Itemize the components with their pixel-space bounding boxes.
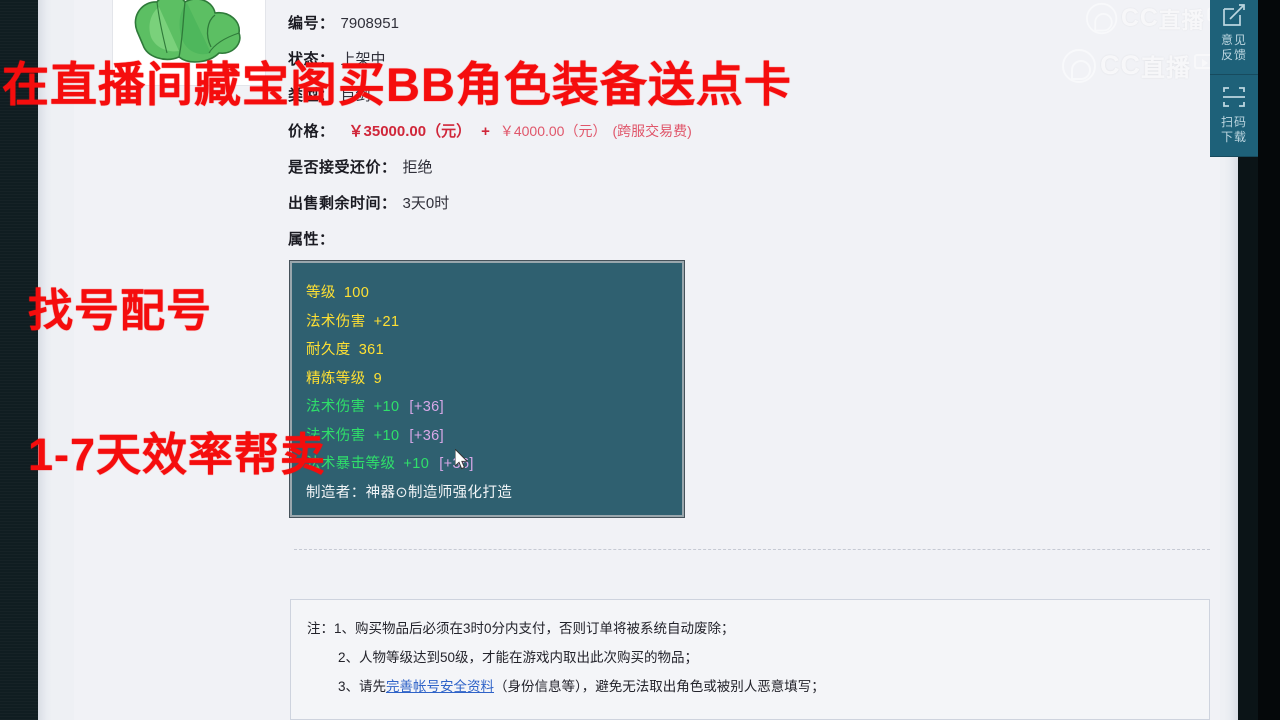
item-row-status: 状态： 上架中 bbox=[288, 48, 988, 84]
attribute-key: 法术暴击等级 bbox=[306, 456, 395, 472]
section-divider bbox=[294, 549, 1210, 550]
sidebar-item-qr-download[interactable]: 扫码 下载 bbox=[1210, 75, 1258, 157]
notice-2-text: 人物等级达到50级，才能在游戏内取出此次购买的物品； bbox=[359, 650, 698, 665]
attribute-key: 耐久度 bbox=[306, 342, 351, 358]
notice-1-prefix: 注：1、 bbox=[307, 614, 355, 643]
remaining-value: 3天0时 bbox=[403, 192, 450, 213]
captured-page: 编号： 7908951 状态： 上架中 类型： 巨剑 价格： ￥35000.00… bbox=[38, 0, 1238, 720]
notice-line-3: 3、请先完善帐号安全资料（身份信息等），避免无法取出角色或被别人恶意填写； bbox=[307, 672, 1209, 701]
floating-sidebar: 意见 反馈 扫码 下载 bbox=[1210, 0, 1258, 157]
item-id-label: 编号： bbox=[288, 12, 335, 33]
item-row-remaining: 出售剩余时间： 3天0时 bbox=[288, 192, 988, 228]
item-row-price: 价格： ￥35000.00（元） + ￥4000.00（元） (跨服交易费) bbox=[288, 120, 988, 156]
notice-3-index: 3、 bbox=[338, 672, 359, 701]
attributes-label: 属性： bbox=[288, 228, 335, 249]
price-fee-label: (跨服交易费) bbox=[612, 121, 691, 141]
notice-line-2: 2、人物等级达到50级，才能在游戏内取出此次购买的物品； bbox=[307, 643, 1209, 672]
item-type-value: 巨剑 bbox=[341, 84, 371, 105]
sidebar-qr-label-1: 扫码 bbox=[1212, 115, 1256, 130]
notice-3-text-a: 请先 bbox=[359, 679, 386, 694]
attribute-key: 法术伤害 bbox=[306, 399, 366, 415]
item-row-bargain: 是否接受还价： 拒绝 bbox=[288, 156, 988, 192]
page-content: 编号： 7908951 状态： 上架中 类型： 巨剑 价格： ￥35000.00… bbox=[74, 0, 1220, 720]
attribute-bonus: [+36] bbox=[409, 428, 444, 444]
price-fee-value: ￥4000.00（元） bbox=[500, 121, 607, 141]
item-type-label: 类型： bbox=[288, 84, 335, 105]
sidebar-item-feedback[interactable]: 意见 反馈 bbox=[1210, 0, 1258, 75]
sidebar-feedback-label-2: 反馈 bbox=[1212, 48, 1256, 63]
attribute-key: 法术伤害 bbox=[306, 314, 366, 330]
price-label: 价格： bbox=[288, 120, 335, 141]
attribute-value: +10 bbox=[403, 456, 429, 472]
notice-2-index: 2、 bbox=[338, 643, 359, 672]
sidebar-qr-label-2: 下载 bbox=[1212, 130, 1256, 145]
attribute-bonus: [+36] bbox=[409, 399, 444, 415]
attribute-key: 等级 bbox=[306, 285, 336, 301]
remaining-label: 出售剩余时间： bbox=[288, 192, 397, 213]
attribute-line: 法术伤害+21 bbox=[306, 308, 682, 337]
maker-line: 制造者：神器⊙制造师强化打造 bbox=[306, 479, 682, 508]
video-left-rail bbox=[0, 0, 38, 720]
attribute-line: 法术伤害+10[+36] bbox=[306, 422, 682, 451]
item-id-value: 7908951 bbox=[341, 15, 399, 32]
video-right-rail bbox=[1258, 0, 1280, 720]
page-gutter-left bbox=[38, 0, 52, 720]
attribute-value: +10 bbox=[374, 428, 400, 444]
item-icon-box[interactable] bbox=[112, 0, 266, 86]
attribute-key: 法术伤害 bbox=[306, 428, 366, 444]
attribute-value: +10 bbox=[374, 399, 400, 415]
item-info-list: 编号： 7908951 状态： 上架中 类型： 巨剑 价格： ￥35000.00… bbox=[288, 12, 988, 268]
scan-qr-icon bbox=[1221, 84, 1247, 110]
bargain-label: 是否接受还价： bbox=[288, 156, 397, 177]
item-attributes-panel: 等级100法术伤害+21耐久度361精炼等级9法术伤害+10[+36]法术伤害+… bbox=[290, 261, 684, 517]
item-status-label: 状态： bbox=[288, 48, 335, 69]
bargain-value: 拒绝 bbox=[403, 156, 433, 177]
attribute-line: 耐久度361 bbox=[306, 336, 682, 365]
item-row-type: 类型： 巨剑 bbox=[288, 84, 988, 120]
pencil-square-icon bbox=[1221, 2, 1247, 28]
price-main-value: ￥35000.00（元） bbox=[349, 120, 472, 141]
price-plus-sign: + bbox=[481, 123, 490, 140]
sidebar-feedback-label-1: 意见 bbox=[1212, 33, 1256, 48]
stream-stage: 编号： 7908951 状态： 上架中 类型： 巨剑 价格： ￥35000.00… bbox=[0, 0, 1280, 720]
attribute-value: 100 bbox=[344, 285, 369, 301]
account-security-link[interactable]: 完善帐号安全资料 bbox=[386, 679, 494, 694]
attribute-line: 精炼等级9 bbox=[306, 365, 682, 394]
green-leaf-item-icon bbox=[129, 0, 249, 67]
purchase-notice-box: 注：1、购买物品后必须在3时0分内支付，否则订单将被系统自动废除； 2、人物等级… bbox=[290, 599, 1210, 720]
attribute-value: 9 bbox=[374, 371, 382, 387]
attribute-bonus: [+36] bbox=[439, 456, 474, 472]
item-row-id: 编号： 7908951 bbox=[288, 12, 988, 48]
attribute-value: +21 bbox=[374, 314, 400, 330]
attribute-line: 法术伤害+10[+36] bbox=[306, 393, 682, 422]
notice-1-text: 购买物品后必须在3时0分内支付，否则订单将被系统自动废除； bbox=[355, 621, 735, 636]
attribute-key: 精炼等级 bbox=[306, 371, 366, 387]
notice-line-1: 注：1、购买物品后必须在3时0分内支付，否则订单将被系统自动废除； bbox=[307, 614, 1209, 643]
attribute-line: 等级100 bbox=[306, 279, 682, 308]
item-status-value: 上架中 bbox=[341, 48, 386, 69]
attribute-value: 361 bbox=[359, 342, 384, 358]
notice-3-text-b: （身份信息等），避免无法取出角色或被别人恶意填写； bbox=[494, 679, 825, 694]
attribute-list: 等级100法术伤害+21耐久度361精炼等级9法术伤害+10[+36]法术伤害+… bbox=[306, 279, 682, 479]
attribute-line: 法术暴击等级+10[+36] bbox=[306, 450, 682, 479]
